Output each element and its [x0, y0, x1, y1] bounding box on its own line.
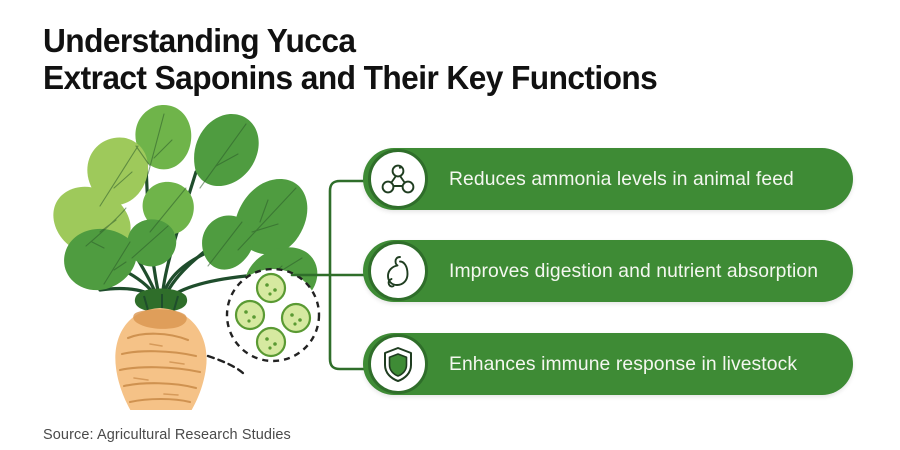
functions-list: Reduces ammonia levels in animal feed Im…	[363, 148, 863, 404]
title-line-1: Understanding Yucca	[43, 22, 830, 59]
function-item-enhances-immune[interactable]: Enhances immune response in livestock	[363, 333, 853, 395]
infographic-canvas: Understanding Yucca Extract Saponins and…	[0, 0, 900, 450]
stomach-icon	[368, 241, 428, 301]
shield-icon	[368, 334, 428, 394]
function-item-reduces-ammonia[interactable]: Reduces ammonia levels in animal feed	[363, 148, 853, 210]
yucca-root	[96, 308, 224, 410]
page-title: Understanding Yucca Extract Saponins and…	[43, 22, 863, 96]
ammonia-molecule-icon	[368, 149, 428, 209]
function-item-improves-digestion[interactable]: Improves digestion and nutrient absorpti…	[363, 240, 853, 302]
function-label: Enhances immune response in livestock	[449, 353, 797, 376]
function-label: Improves digestion and nutrient absorpti…	[449, 260, 818, 283]
source-caption: Source: Agricultural Research Studies	[43, 427, 291, 443]
function-label: Reduces ammonia levels in animal feed	[449, 168, 794, 191]
title-line-2: Extract Saponins and Their Key Functions	[43, 59, 830, 96]
